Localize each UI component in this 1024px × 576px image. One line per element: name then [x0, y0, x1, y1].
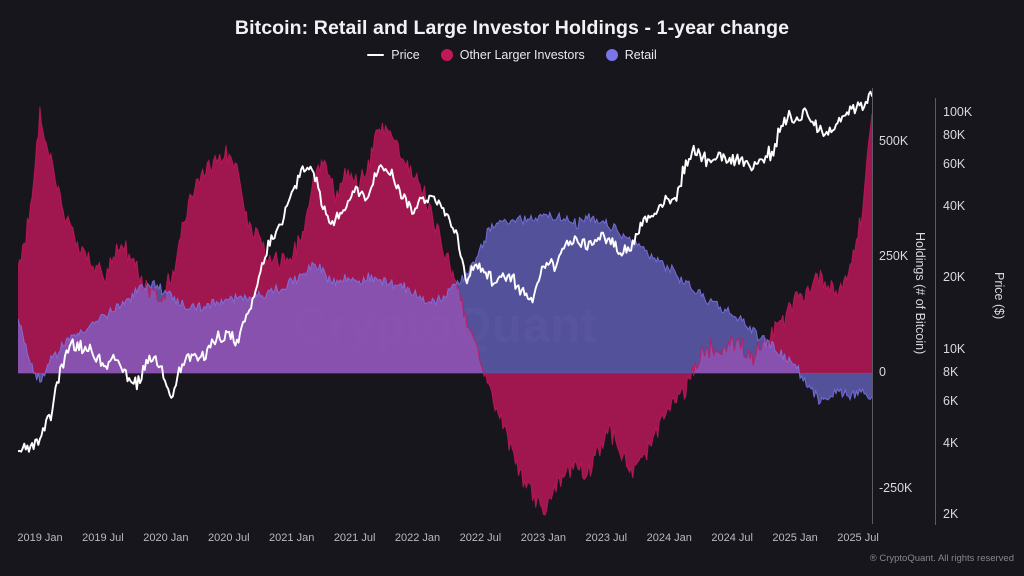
x-tick-label: 2023 Jan — [521, 532, 566, 544]
x-tick-label: 2024 Jan — [647, 532, 692, 544]
x-tick-label: 2021 Jan — [269, 532, 314, 544]
legend-item-price[interactable]: Price — [367, 48, 419, 62]
chart-canvas — [18, 86, 872, 526]
x-tick-label: 2021 Jul — [334, 532, 376, 544]
price-tick-label: 60K — [943, 157, 965, 171]
x-tick-label: 2022 Jul — [460, 532, 502, 544]
chart-root: Bitcoin: Retail and Large Investor Holdi… — [0, 0, 1024, 576]
holdings-tick-label: 500K — [879, 134, 908, 148]
holdings-axis-line — [872, 88, 873, 524]
price-tick-label: 20K — [943, 270, 965, 284]
x-tick-label: 2023 Jul — [586, 532, 628, 544]
x-tick-label: 2022 Jan — [395, 532, 440, 544]
legend-label-price: Price — [391, 48, 419, 62]
page-title: Bitcoin: Retail and Large Investor Holdi… — [0, 17, 1024, 40]
x-tick-label: 2020 Jan — [143, 532, 188, 544]
legend-item-other-larger-investors[interactable]: Other Larger Investors — [441, 48, 585, 62]
price-tick-label: 8K — [943, 365, 958, 379]
price-axis-title: Price ($) — [992, 272, 1006, 319]
price-tick-label: 40K — [943, 199, 965, 213]
holdings-tick-label: -250K — [879, 481, 912, 495]
legend-label-retail: Retail — [625, 48, 657, 62]
price-tick-label: 4K — [943, 436, 958, 450]
holdings-tick-label: 0 — [879, 365, 886, 379]
x-tick-label: 2019 Jul — [82, 532, 124, 544]
holdings-tick-label: 250K — [879, 249, 908, 263]
x-tick-label: 2025 Jul — [837, 532, 879, 544]
price-tick-label: 6K — [943, 394, 958, 408]
legend-label-other-larger-investors: Other Larger Investors — [460, 48, 585, 62]
x-tick-label: 2020 Jul — [208, 532, 250, 544]
footer-credit: ® CryptoQuant. All rights reserved — [870, 553, 1014, 564]
legend-item-retail[interactable]: Retail — [606, 48, 657, 62]
x-tick-label: 2025 Jan — [772, 532, 817, 544]
price-axis-line — [935, 98, 936, 525]
plot-area[interactable]: CryptoQuant — [18, 86, 872, 526]
price-tick-label: 10K — [943, 342, 965, 356]
chart-legend: Price Other Larger Investors Retail — [0, 48, 1024, 62]
x-tick-label: 2019 Jan — [17, 532, 62, 544]
dot-swatch-icon — [606, 49, 618, 61]
price-tick-label: 2K — [943, 507, 958, 521]
price-tick-label: 80K — [943, 128, 965, 142]
line-swatch-icon — [367, 54, 384, 57]
x-tick-label: 2024 Jul — [711, 532, 753, 544]
holdings-axis-title: Holdings (# of Bitcoin) — [913, 232, 927, 354]
dot-swatch-icon — [441, 49, 453, 61]
price-tick-label: 100K — [943, 105, 972, 119]
